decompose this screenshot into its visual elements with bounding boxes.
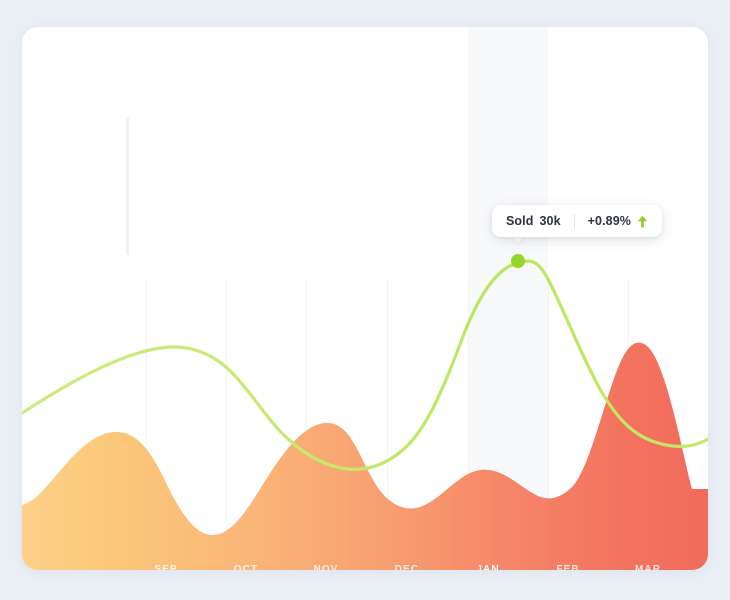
axis-label-mar: MAR bbox=[608, 564, 688, 570]
screenshot-root: SEP OCT NOV DEC JAN FEB MAR Sold 30k +0.… bbox=[0, 0, 730, 600]
volume-area-series bbox=[22, 343, 708, 570]
tooltip-delta-value: +0.89% bbox=[588, 214, 631, 228]
tooltip-pointer bbox=[512, 236, 524, 243]
tooltip-separator bbox=[574, 214, 575, 229]
axis-label-nov: NOV bbox=[286, 564, 366, 570]
tooltip-metric-value: 30k bbox=[539, 214, 560, 228]
sales-area-chart[interactable] bbox=[22, 27, 708, 570]
chart-card: SEP OCT NOV DEC JAN FEB MAR bbox=[22, 27, 708, 570]
axis-label-sep: SEP bbox=[126, 564, 206, 570]
axis-label-jan: JAN bbox=[448, 564, 528, 570]
axis-label-dec: DEC bbox=[367, 564, 447, 570]
arrow-up-icon bbox=[637, 215, 648, 228]
axis-label-oct: OCT bbox=[206, 564, 286, 570]
tooltip-metric-label: Sold bbox=[506, 214, 533, 228]
sold-peak-marker[interactable] bbox=[511, 254, 525, 268]
axis-label-feb: FEB bbox=[528, 564, 608, 570]
decorative-vertical-line bbox=[126, 117, 129, 255]
chart-tooltip: Sold 30k +0.89% bbox=[492, 205, 662, 237]
